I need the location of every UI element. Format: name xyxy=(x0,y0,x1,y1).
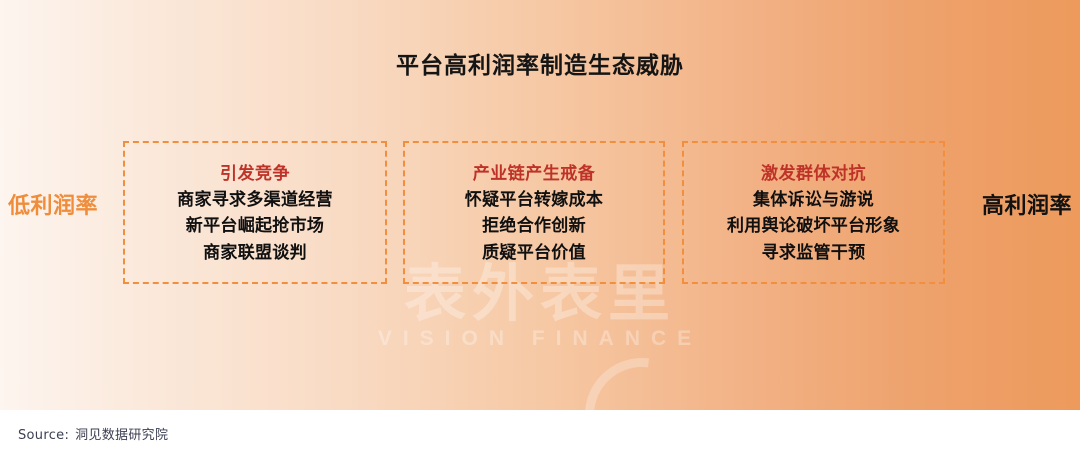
infographic-figure: 表外表里 VISION FINANCE 平台高利润率制造生态威胁 低利润率 高利… xyxy=(0,0,1080,452)
threat-box-1-line-1: 商家寻求多渠道经营 xyxy=(177,187,333,214)
threat-box-1-heading: 引发竞争 xyxy=(220,161,290,187)
threat-box-2-line-3: 质疑平台价值 xyxy=(482,240,586,267)
threat-box-2-line-2: 拒绝合作创新 xyxy=(482,213,586,240)
footer: Source:洞见数据研究院 xyxy=(0,410,1080,452)
threat-box-1: 引发竞争 商家寻求多渠道经营 新平台崛起抢市场 商家联盟谈判 xyxy=(123,141,387,284)
watermark-en-text: VISION FINANCE xyxy=(0,327,1080,351)
source-value: 洞见数据研究院 xyxy=(75,428,168,443)
threat-box-3-heading: 激发群体对抗 xyxy=(761,161,866,187)
watermark-ring-icon xyxy=(562,335,722,410)
threat-box-2-line-1: 怀疑平台转嫁成本 xyxy=(465,187,603,214)
threat-box-2: 产业链产生戒备 怀疑平台转嫁成本 拒绝合作创新 质疑平台价值 xyxy=(403,141,665,284)
axis-label-low-margin: 低利润率 xyxy=(8,188,98,220)
threat-box-1-line-3: 商家联盟谈判 xyxy=(203,240,307,267)
source-label: Source: xyxy=(18,428,69,443)
page-title: 平台高利润率制造生态威胁 xyxy=(0,46,1080,80)
threat-box-3-line-1: 集体诉讼与游说 xyxy=(753,187,874,214)
gradient-panel: 表外表里 VISION FINANCE 平台高利润率制造生态威胁 低利润率 高利… xyxy=(0,0,1080,410)
threat-box-3-line-3: 寻求监管干预 xyxy=(762,240,866,267)
threat-box-3: 激发群体对抗 集体诉讼与游说 利用舆论破坏平台形象 寻求监管干预 xyxy=(682,141,945,284)
source-note: Source:洞见数据研究院 xyxy=(18,424,168,443)
axis-label-high-margin: 高利润率 xyxy=(982,188,1072,220)
threat-box-2-heading: 产业链产生戒备 xyxy=(473,161,596,187)
threat-box-3-line-2: 利用舆论破坏平台形象 xyxy=(727,213,900,240)
threat-box-1-line-2: 新平台崛起抢市场 xyxy=(186,213,324,240)
